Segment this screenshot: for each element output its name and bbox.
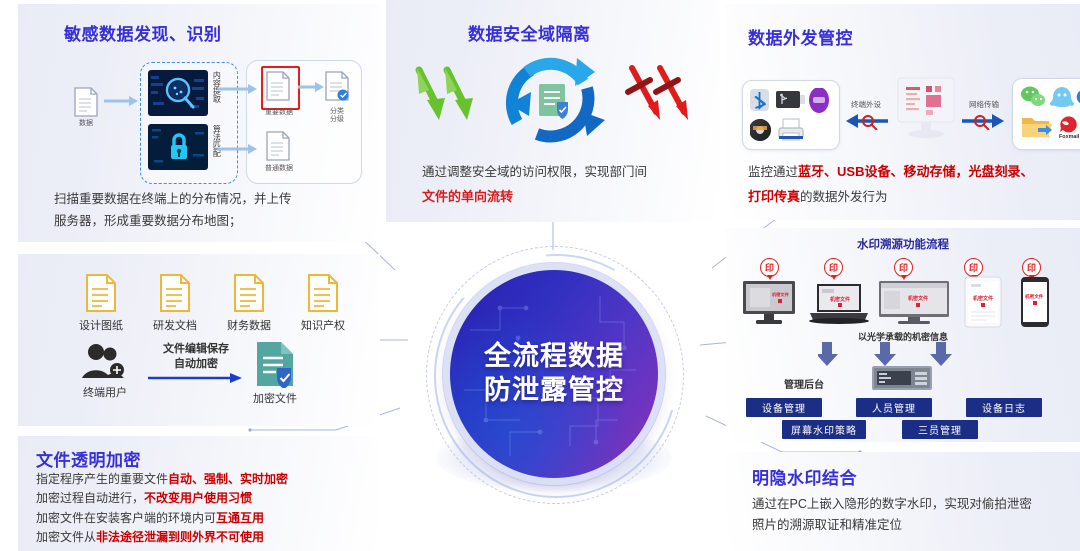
line-red: 自动、强制、实时加密 — [168, 472, 288, 486]
svg-text:Foxmail: Foxmail — [1059, 134, 1080, 140]
outbound-desc-suffix: 的数据外发行为 — [800, 190, 888, 204]
qq-icon — [1050, 87, 1074, 107]
arrow-auto-encrypt — [148, 372, 244, 384]
watermark-badge: 印 — [894, 258, 913, 277]
panel-title-transparent: 文件透明加密 — [36, 446, 141, 471]
data-cycle-icon — [491, 48, 617, 148]
isolation-desc-prefix: 通过调整安全域的访问权限，实现部门间 — [422, 165, 647, 179]
discovery-desc-line1: 扫描重要数据在终端上的分布情况，并上传 — [54, 189, 364, 211]
label-terminal-user: 终端用户 — [70, 384, 140, 400]
line-red: 非法途径泄漏到则外界不可使用 — [96, 530, 264, 544]
admin-button-personnel-management[interactable]: 人员管理 — [856, 398, 932, 417]
line-red: 互通互用 — [216, 511, 264, 525]
doc-type-label: 知识产权 — [298, 317, 348, 333]
doc-type-rnd: 研发文档 — [150, 272, 200, 333]
wide-monitor-device-icon: 机密文件 — [878, 280, 950, 326]
line-plain: 加密文件在安装客户端的环境内可 — [36, 511, 216, 525]
infographic-canvas: 敏感数据发现、识别 数据 — [0, 0, 1080, 551]
doc-type-design: 设计图纸 — [76, 272, 126, 333]
source-document-icon — [73, 86, 99, 118]
svg-text:机密文件: 机密文件 — [772, 291, 790, 298]
outbound-desc-prefix: 监控通过 — [748, 165, 798, 179]
server-icon — [872, 366, 932, 392]
doc-type-label: 研发文档 — [150, 317, 200, 333]
laptop-device-icon: 机密文件 — [808, 282, 870, 326]
panel-title-isolation: 数据安全域隔离 — [468, 20, 591, 45]
outbound-desc-highlight1: 蓝牙、USB设备、移动存储，光盘刻录、 — [798, 164, 1033, 179]
label-network-transmission: 网络传输 — [962, 100, 1006, 109]
downward-arrows-icon — [818, 342, 962, 368]
doc-type-finance: 财务数据 — [224, 272, 274, 333]
svg-text:机密文件: 机密文件 — [1025, 293, 1044, 300]
admin-button-device-log[interactable]: 设备日志 — [966, 398, 1042, 417]
watermark-flow-title: 水印溯源功能流程 — [726, 236, 1080, 252]
badge-text: 印 — [1027, 261, 1036, 274]
doc-type-ip: 知识产权 — [298, 272, 348, 333]
wechat-icon — [1021, 87, 1045, 107]
arrow-to-classification — [298, 82, 324, 92]
encrypt-arrow-line2: 自动加密 — [146, 357, 246, 372]
line-plain: 加密过程自动进行， — [36, 491, 144, 505]
foxmail-icon — [1060, 116, 1077, 132]
panel-hidden-watermark: 明隐水印结合 通过在PC上嵌入隐形的数字水印，实现对偷拍泄密 照片的溯源取证和精… — [726, 452, 1080, 551]
arrow-to-important — [218, 84, 258, 94]
line-red: 不改变用户使用习惯 — [144, 491, 252, 505]
hub-core: 全流程数据 防泄露管控 — [450, 270, 658, 478]
outbound-desc-highlight2: 打印传真 — [748, 189, 800, 204]
label-source-data: 数据 — [68, 120, 104, 128]
arrow-peripheral — [842, 112, 890, 130]
panel-outbound-control: 数据外发管控 — [726, 4, 1080, 220]
transparent-line-4: 加密文件从非法途径泄漏到则外界不可使用 — [36, 528, 376, 547]
panel-file-encryption-types: 设计图纸 研发文档 财务数据 — [18, 254, 380, 426]
encrypted-file-icon — [254, 340, 296, 388]
transparent-line-3: 加密文件在安装客户端的环境内可互通互用 — [36, 509, 376, 528]
optical-disc-icon — [750, 119, 771, 141]
normal-document-icon — [265, 130, 291, 162]
central-hub: 全流程数据 防泄露管控 — [408, 228, 700, 520]
desktop-device-icon: 机密文件 — [742, 280, 796, 326]
panel-watermark-tracing-flow: 水印溯源功能流程 印 印 印 印 印 机密文件 机密文件 — [726, 228, 1080, 442]
svg-text:机密文件: 机密文件 — [829, 296, 850, 303]
phone-device-icon: 机密文件 — [1020, 276, 1050, 328]
panel-sensitive-data-discovery: 敏感数据发现、识别 数据 — [18, 4, 380, 242]
badge-text: 印 — [765, 261, 774, 274]
content-extraction-thumbnail — [148, 70, 208, 116]
arrow-source-to-process — [104, 96, 138, 106]
algorithm-matching-thumbnail — [148, 124, 208, 170]
central-monitor-icon — [894, 76, 958, 150]
encrypt-arrow-line1: 文件编辑保存 — [146, 342, 246, 357]
label-encrypted-file: 加密文件 — [242, 390, 308, 406]
arrow-to-normal — [218, 144, 258, 154]
hub-title-line2: 防泄露管控 — [484, 374, 624, 408]
hidden-wm-desc-line2: 照片的溯源取证和精准定位 — [752, 515, 1072, 536]
admin-button-device-management[interactable]: 设备管理 — [746, 398, 822, 417]
svg-text:机密文件: 机密文件 — [972, 295, 993, 302]
watermark-badge: 印 — [760, 258, 779, 277]
document-outline-icon — [84, 272, 118, 314]
shared-folder-icon — [1022, 118, 1052, 137]
document-outline-icon — [232, 272, 266, 314]
printer-icon — [779, 119, 803, 140]
admin-button-screen-watermark-policy[interactable]: 屏幕水印策略 — [782, 420, 866, 439]
discovery-desc-line2: 服务器，形成重要数据分布地图； — [54, 211, 364, 233]
admin-button-three-member-management[interactable]: 三员管理 — [902, 420, 978, 439]
panel-title-hidden-watermark: 明隐水印结合 — [752, 464, 857, 489]
bluetooth-icon — [750, 89, 769, 111]
removable-drive-icon — [809, 88, 829, 113]
peripheral-icons-group — [750, 88, 830, 142]
watermark-badge: 印 — [1022, 258, 1041, 277]
label-classification: 分类 分级 — [316, 108, 358, 125]
document-outline-icon — [158, 272, 192, 314]
hub-title: 全流程数据 防泄露管控 — [484, 340, 624, 408]
label-normal-data: 普通数据 — [259, 165, 299, 173]
important-data-highlight — [261, 66, 300, 110]
hidden-wm-desc-line1: 通过在PC上嵌入隐形的数字水印，实现对偷拍泄密 — [752, 494, 1072, 515]
blocked-flow-arrows-icon — [624, 62, 696, 124]
isolation-desc-highlight: 文件的单向流转 — [422, 186, 702, 209]
badge-text: 印 — [829, 261, 838, 274]
line-plain: 指定程序产生的重要文件 — [36, 472, 168, 486]
badge-text: 印 — [969, 261, 978, 274]
label-admin-backend: 管理后台 — [784, 376, 824, 391]
panel-transparent-encryption: 文件透明加密 指定程序产生的重要文件自动、强制、实时加密 加密过程自动进行，不改… — [18, 436, 380, 551]
transparent-line-1: 指定程序产生的重要文件自动、强制、实时加密 — [36, 470, 376, 489]
tablet-device-icon: 机密文件 — [964, 276, 1002, 328]
classified-document-icon — [324, 70, 350, 102]
doc-type-label: 设计图纸 — [76, 317, 126, 333]
network-app-icons-group: 百度云 Foxmail e — [1018, 84, 1080, 142]
hub-title-line1: 全流程数据 — [484, 340, 624, 374]
allowed-flow-arrows-icon — [411, 62, 479, 124]
arrow-network — [960, 112, 1008, 130]
doc-type-label: 财务数据 — [224, 317, 274, 333]
svg-text:机密文件: 机密文件 — [907, 295, 928, 302]
line-plain: 加密文件从 — [36, 530, 96, 544]
badge-text: 印 — [899, 261, 908, 274]
document-outline-icon — [306, 272, 340, 314]
terminal-user-icon — [80, 342, 128, 382]
usb-icon — [776, 91, 805, 108]
transparent-line-2: 加密过程自动进行，不改变用户使用习惯 — [36, 489, 376, 508]
watermark-badge: 印 — [824, 258, 843, 277]
label-terminal-peripheral: 终端外设 — [844, 100, 888, 109]
panel-title-discovery: 敏感数据发现、识别 — [64, 20, 222, 45]
panel-title-outbound: 数据外发管控 — [748, 24, 853, 49]
watermark-badge: 印 — [964, 258, 983, 277]
panel-security-domain-isolation: 数据安全域隔离 — [386, 0, 720, 222]
label-important-data: 重要数据 — [259, 109, 299, 117]
